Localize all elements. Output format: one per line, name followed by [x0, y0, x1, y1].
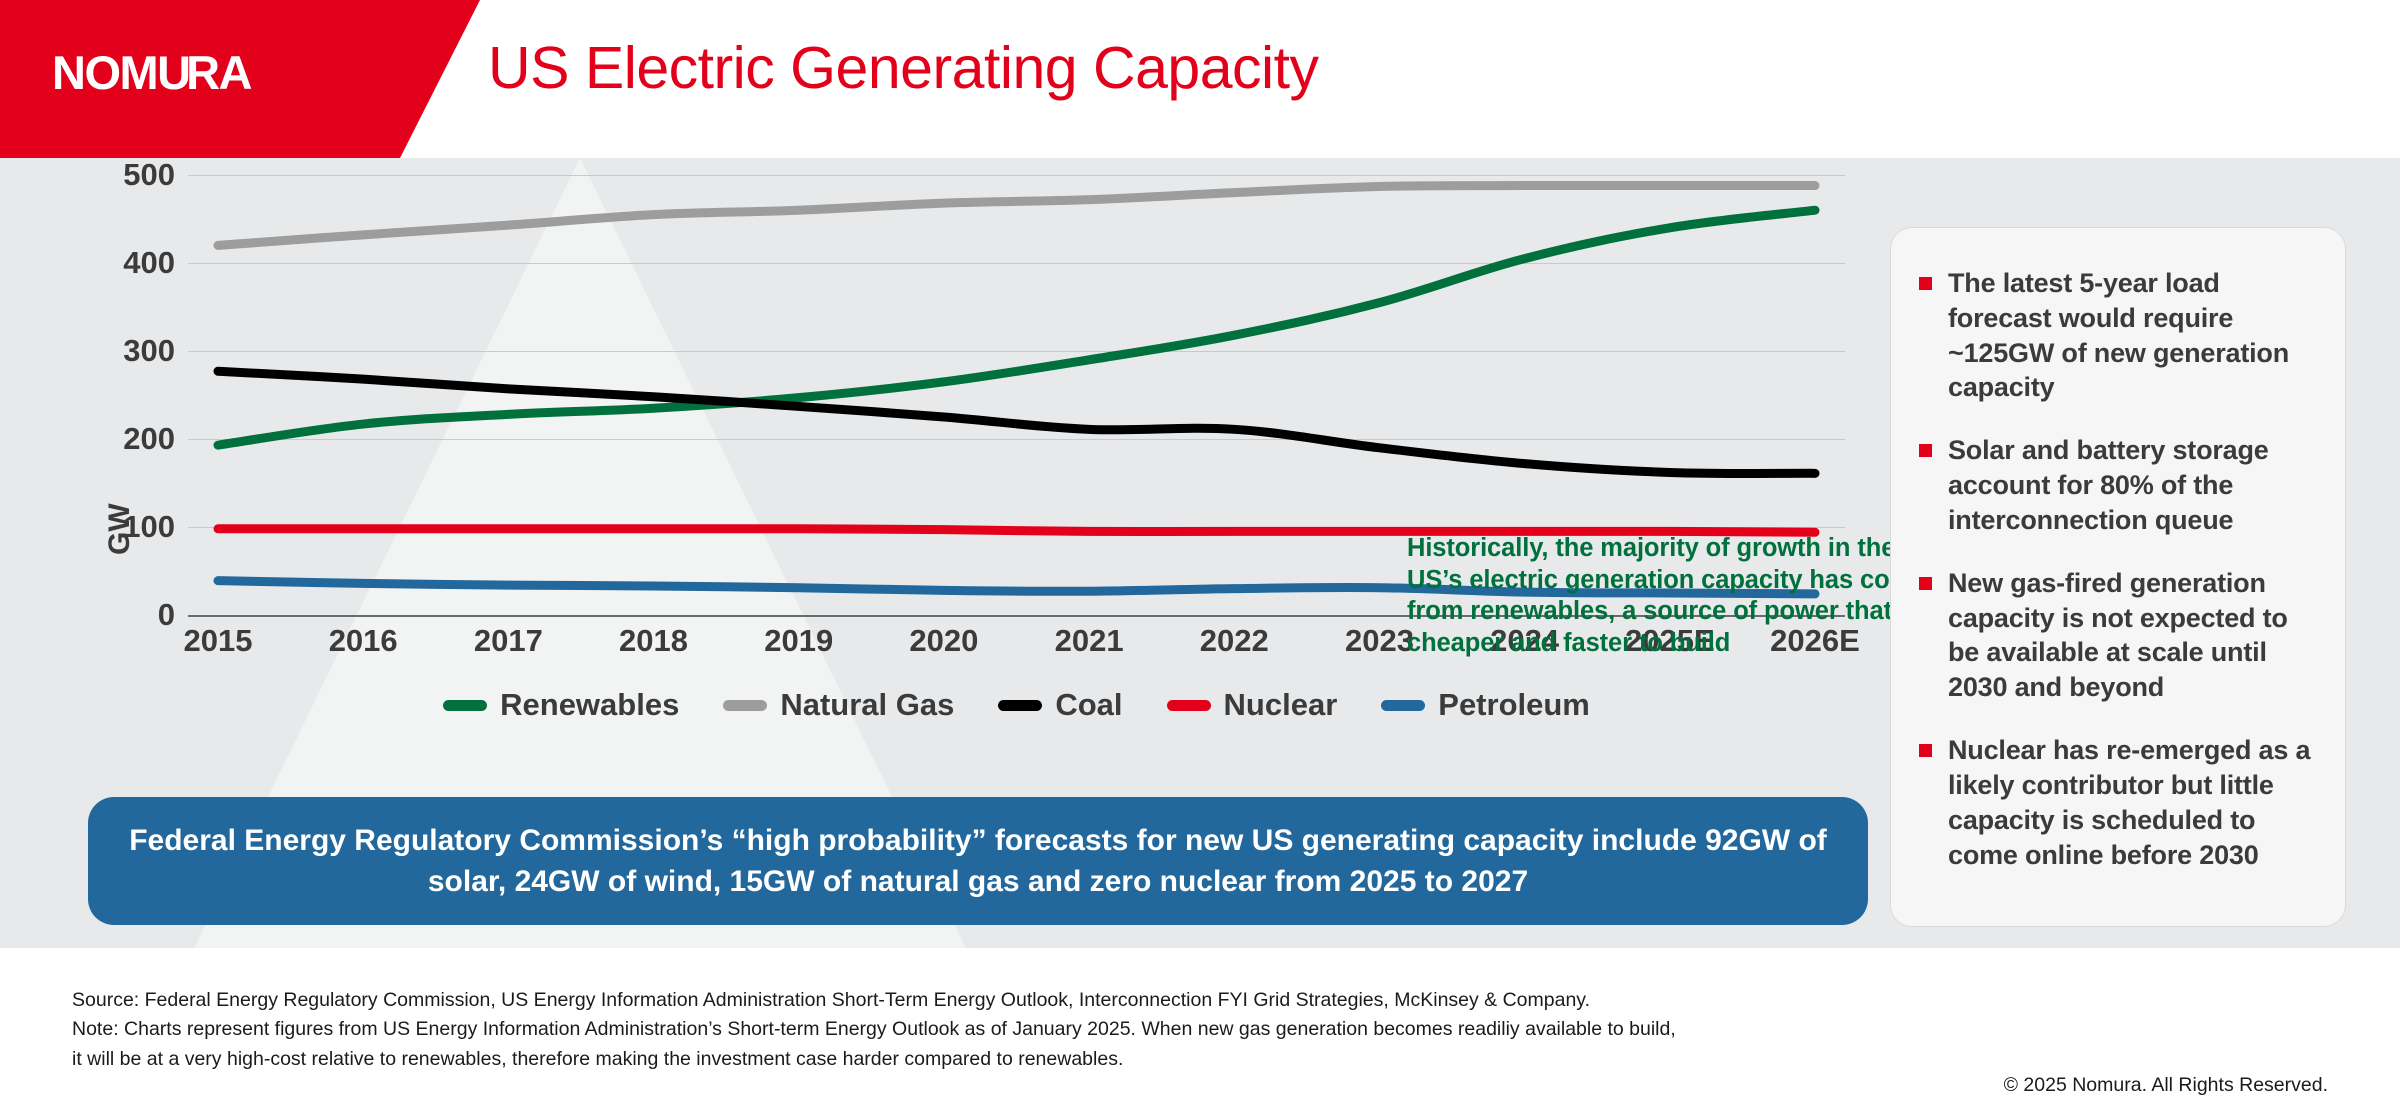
legend-label-nuclear: Nuclear — [1224, 687, 1338, 723]
bullet-square-icon — [1919, 744, 1932, 757]
sidebar-bullet-4: Nuclear has re-emerged as a likely contr… — [1919, 733, 2317, 872]
legend-item-petroleum[interactable]: Petroleum — [1381, 687, 1590, 723]
x-tick-2022: 2022 — [1200, 623, 1269, 659]
x-tick-2018: 2018 — [619, 623, 688, 659]
series-line-coal — [218, 371, 1815, 473]
y-tick-200: 200 — [123, 421, 175, 457]
y-tick-0: 0 — [158, 597, 175, 633]
legend-swatch-renewables — [443, 700, 487, 711]
legend-swatch-natural-gas — [723, 700, 767, 711]
bullet-square-icon — [1919, 444, 1932, 457]
legend-item-natural-gas[interactable]: Natural Gas — [723, 687, 954, 723]
legend-swatch-coal — [998, 700, 1042, 711]
footer-sources: Source: Federal Energy Regulatory Commis… — [72, 986, 1676, 1074]
x-tick-2023: 2023 — [1345, 623, 1414, 659]
note-line-2: it will be at a very high-cost relative … — [72, 1045, 1676, 1074]
series-line-nuclear — [218, 529, 1815, 533]
callout-box: Federal Energy Regulatory Commission’s “… — [88, 797, 1868, 925]
series-line-renewables — [218, 210, 1815, 445]
sidebar-bullet-text: New gas-fired generation capacity is not… — [1948, 566, 2317, 705]
legend-swatch-petroleum — [1381, 700, 1425, 711]
y-tick-100: 100 — [123, 509, 175, 545]
page-header: NOMURA US Electric Generating Capacity — [0, 0, 2400, 158]
x-tick-2019: 2019 — [764, 623, 833, 659]
bullet-square-icon — [1919, 577, 1932, 590]
series-line-natural-gas — [218, 185, 1815, 245]
x-tick-2020: 2020 — [909, 623, 978, 659]
chart-annotation: Historically, the majority of growth in … — [1407, 533, 1927, 659]
sidebar-bullet-text: The latest 5-year load forecast would re… — [1948, 266, 2317, 405]
page-footer: Source: Federal Energy Regulatory Commis… — [0, 948, 2400, 1100]
sidebar-bullet-text: Nuclear has re-emerged as a likely contr… — [1948, 733, 2317, 872]
legend-item-renewables[interactable]: Renewables — [443, 687, 679, 723]
legend-label-petroleum: Petroleum — [1438, 687, 1590, 723]
legend-item-nuclear[interactable]: Nuclear — [1167, 687, 1338, 723]
y-tick-300: 300 — [123, 333, 175, 369]
legend-label-coal: Coal — [1055, 687, 1122, 723]
legend-label-renewables: Renewables — [500, 687, 679, 723]
page-title: US Electric Generating Capacity — [488, 34, 1319, 102]
legend-swatch-nuclear — [1167, 700, 1211, 711]
callout-text: Federal Energy Regulatory Commission’s “… — [128, 820, 1828, 902]
y-tick-500: 500 — [123, 157, 175, 193]
nomura-logo: NOMURA — [52, 45, 251, 100]
legend-label-natural-gas: Natural Gas — [780, 687, 954, 723]
sidebar-bullet-3: New gas-fired generation capacity is not… — [1919, 566, 2317, 705]
sidebar-bullet-1: The latest 5-year load forecast would re… — [1919, 266, 2317, 405]
insights-sidebar: The latest 5-year load forecast would re… — [1890, 227, 2346, 927]
x-tick-2017: 2017 — [474, 623, 543, 659]
sidebar-bullet-text: Solar and battery storage account for 80… — [1948, 433, 2317, 537]
sidebar-bullet-2: Solar and battery storage account for 80… — [1919, 433, 2317, 537]
y-axis-tick-labels: 0100200300400500 — [55, 175, 185, 615]
y-tick-400: 400 — [123, 245, 175, 281]
x-tick-2016: 2016 — [329, 623, 398, 659]
x-tick-2015: 2015 — [184, 623, 253, 659]
source-line: Source: Federal Energy Regulatory Commis… — [72, 986, 1676, 1015]
chart-legend: RenewablesNatural GasCoalNuclearPetroleu… — [188, 687, 1845, 723]
legend-item-coal[interactable]: Coal — [998, 687, 1122, 723]
copyright-text: © 2025 Nomura. All Rights Reserved. — [2004, 1074, 2328, 1097]
x-tick-2021: 2021 — [1055, 623, 1124, 659]
bullet-square-icon — [1919, 277, 1932, 290]
line-chart: GW 0100200300400500 20152016201720182019… — [55, 175, 1845, 785]
note-line-1: Note: Charts represent figures from US E… — [72, 1015, 1676, 1044]
